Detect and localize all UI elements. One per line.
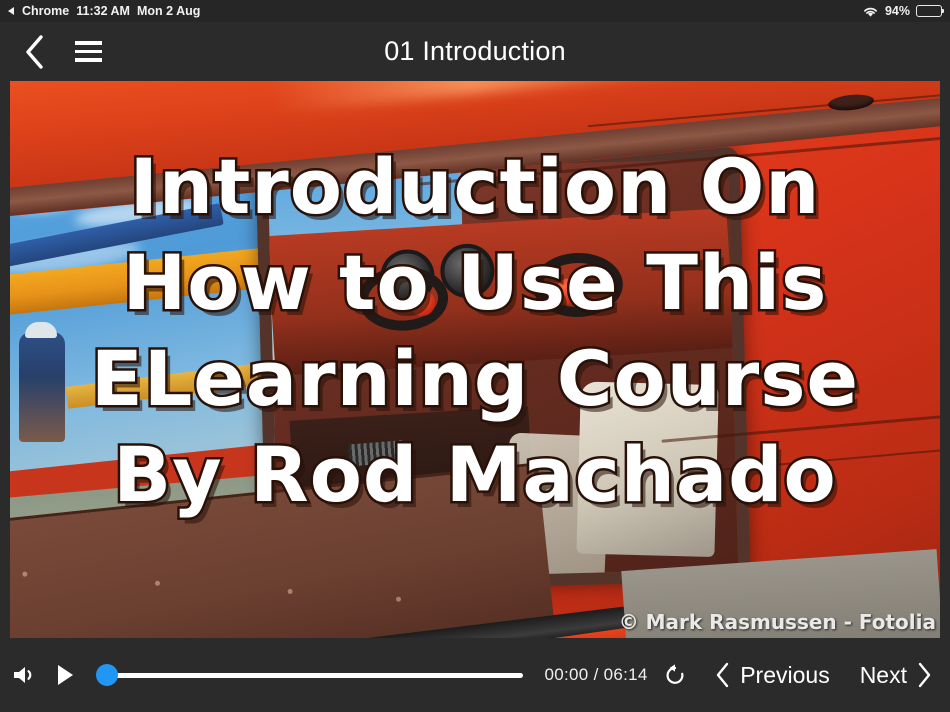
chapter-nav-group: Previous Next (707, 658, 950, 693)
hamburger-menu-icon (75, 50, 102, 53)
play-button[interactable] (45, 653, 84, 697)
status-back-app-label[interactable]: Chrome (22, 4, 69, 18)
ios-app-screen: Chrome 11:32 AM Mon 2 Aug 94% (0, 0, 950, 712)
scene-door-panel (10, 463, 558, 638)
status-bar: Chrome 11:32 AM Mon 2 Aug 94% (0, 0, 950, 22)
status-date: Mon 2 Aug (137, 4, 200, 18)
battery-percent-label: 94% (885, 4, 910, 18)
previous-button[interactable]: Previous (707, 658, 837, 693)
replay-button[interactable] (658, 655, 694, 695)
back-button[interactable] (8, 26, 60, 78)
page-title: 01 Introduction (0, 36, 950, 67)
video-frame (10, 81, 940, 638)
replay-icon (663, 663, 687, 687)
back-triangle-icon[interactable] (8, 7, 14, 15)
scene-rivet (23, 572, 28, 577)
scene-rivet (396, 596, 401, 601)
wifi-icon (862, 5, 879, 18)
next-button[interactable]: Next (852, 658, 940, 693)
status-time: 11:32 AM (76, 4, 130, 18)
hamburger-menu-icon (75, 41, 102, 44)
scene-person (19, 332, 65, 442)
hamburger-menu-button[interactable] (64, 28, 112, 76)
scene-seat-front (577, 382, 719, 558)
volume-button[interactable] (4, 653, 43, 697)
play-icon (55, 663, 75, 687)
battery-icon (916, 5, 942, 17)
chevron-left-icon (23, 34, 45, 70)
next-label: Next (860, 662, 907, 689)
scene-vent-grille (348, 440, 404, 466)
scene-rivet (155, 580, 160, 585)
volume-icon (11, 663, 37, 687)
video-player-stage[interactable]: Introduction On How to Use This ELearnin… (10, 81, 940, 638)
seek-slider[interactable] (96, 662, 522, 688)
scene-rivet (288, 589, 293, 594)
seek-thumb[interactable] (96, 664, 118, 686)
hamburger-menu-icon (75, 58, 102, 61)
chevron-right-icon (917, 662, 932, 688)
chevron-left-icon (715, 662, 730, 688)
previous-label: Previous (740, 662, 829, 689)
status-bar-left: Chrome 11:32 AM Mon 2 Aug (8, 4, 200, 18)
timecode-label: 00:00 / 06:14 (545, 665, 648, 685)
player-controls-bar: 00:00 / 06:14 Previous Next (0, 638, 950, 712)
status-bar-right: 94% (862, 4, 942, 18)
scene-instrument-panel (267, 209, 734, 376)
navigation-bar: 01 Introduction (0, 22, 950, 81)
seek-track[interactable] (102, 673, 522, 678)
